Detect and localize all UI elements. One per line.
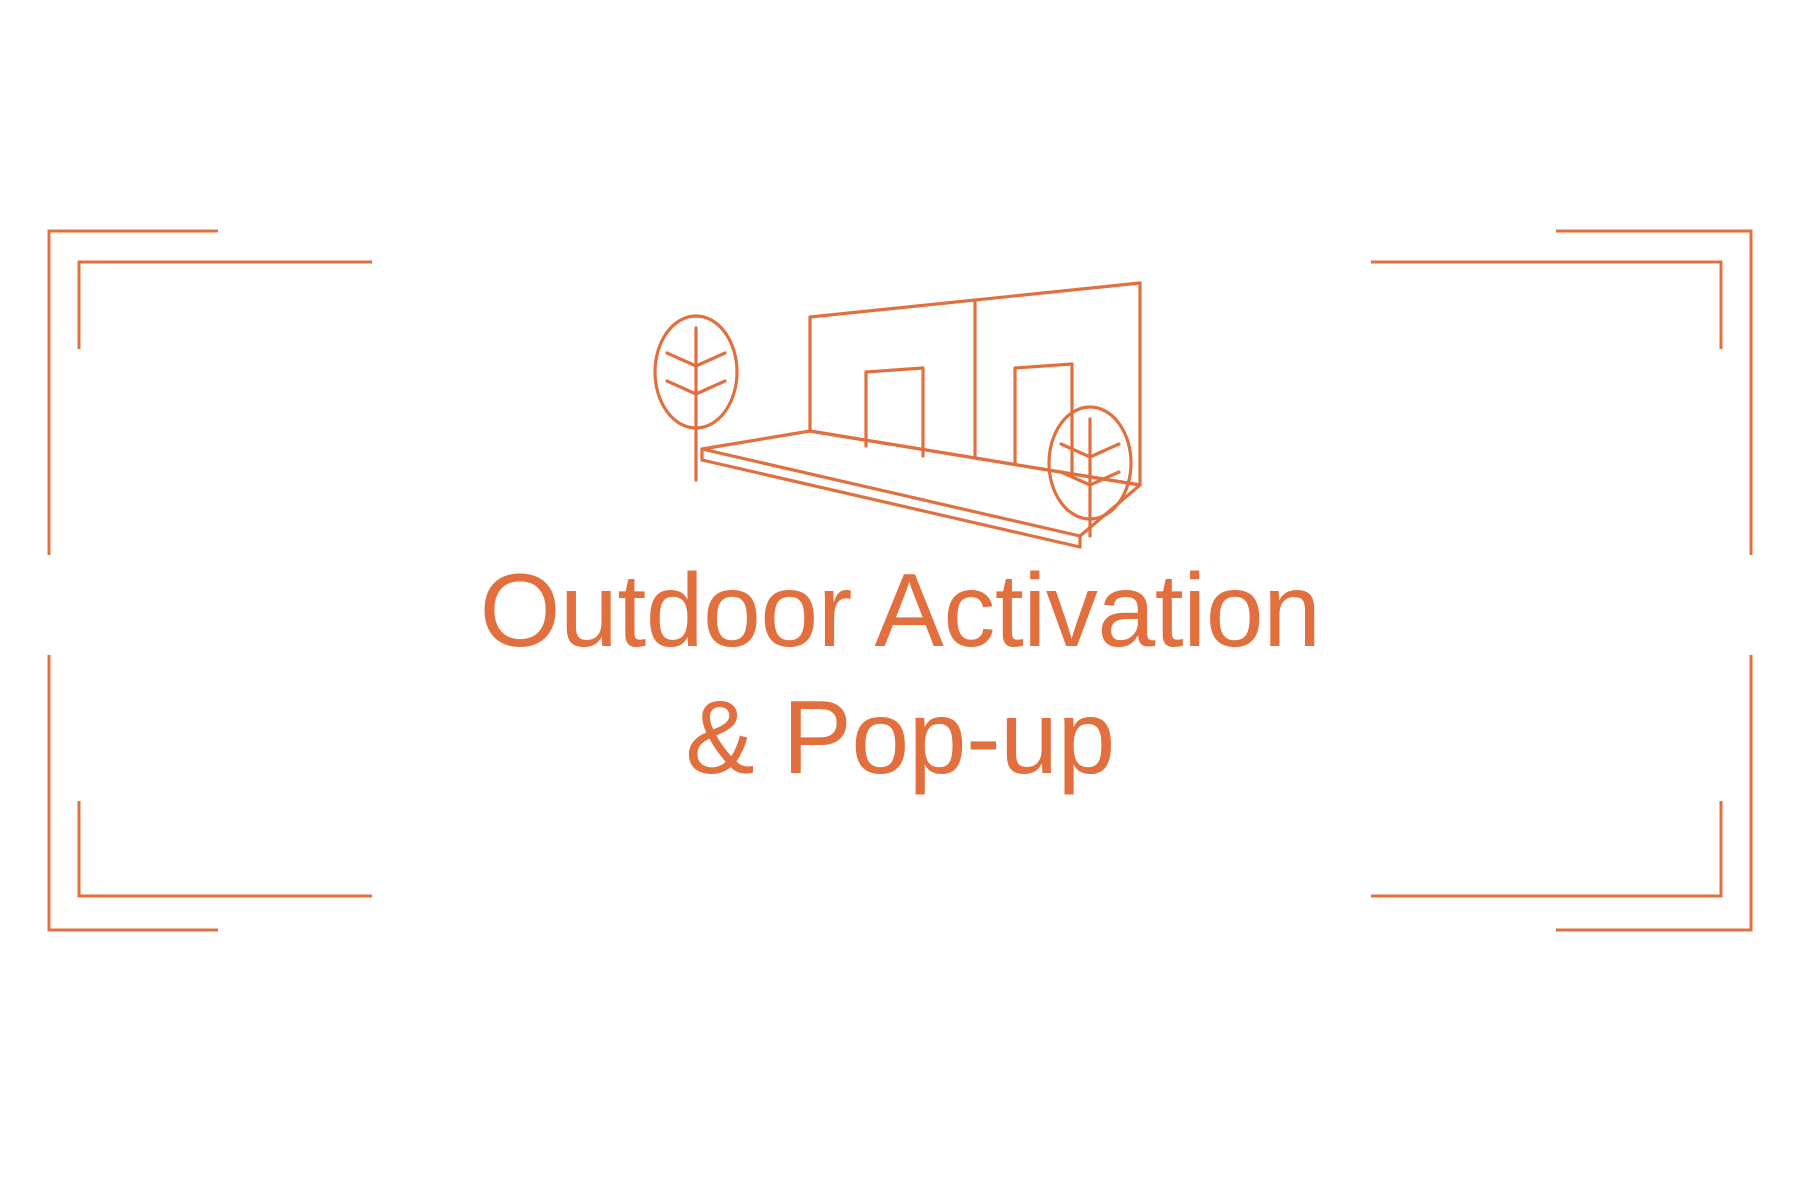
page-title: Outdoor Activation & Pop-up	[0, 548, 1800, 802]
bracket-bottom-right-inner	[1371, 801, 1721, 896]
pavilion-line-art-svg	[640, 268, 1180, 553]
deck-front-bottom-edge	[702, 460, 1080, 547]
bracket-bottom-left-inner	[79, 801, 372, 896]
bracket-top-right-inner	[1371, 262, 1721, 349]
title-line-2: & Pop-up	[0, 675, 1800, 802]
bracket-top-right-outer	[1556, 231, 1751, 555]
bracket-top-left-inner	[79, 262, 372, 349]
deck-top-face	[702, 431, 1140, 536]
bracket-top-left-outer	[49, 231, 218, 555]
title-line-1: Outdoor Activation	[0, 548, 1800, 675]
outdoor-pavilion-illustration	[640, 268, 1180, 553]
slide-canvas: Outdoor Activation & Pop-up	[0, 0, 1800, 1200]
